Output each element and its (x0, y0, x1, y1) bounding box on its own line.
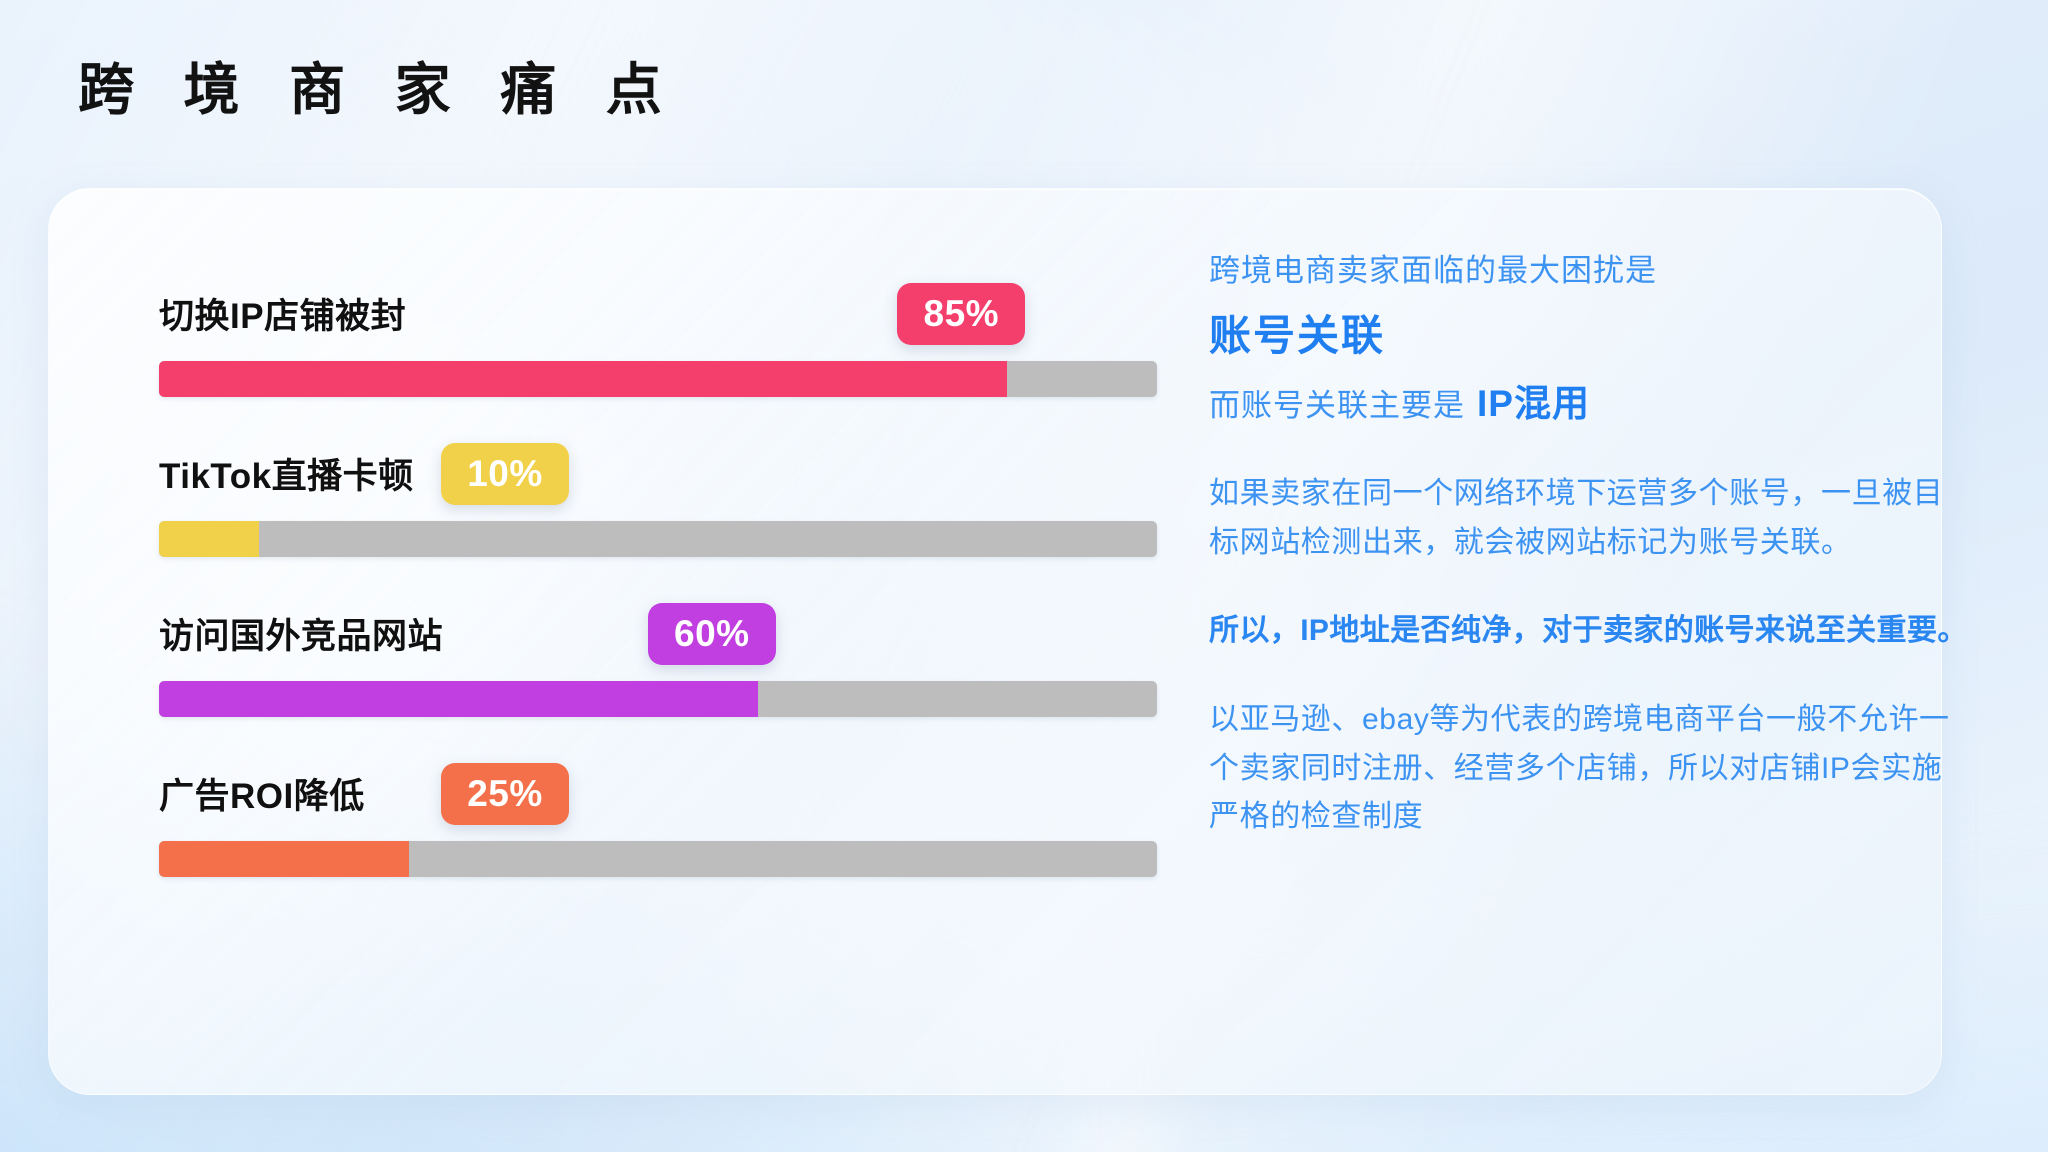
panel-subline-prefix: 而账号关联主要是 (1209, 388, 1465, 423)
page-title: 跨 境 商 家 痛 点 (78, 62, 679, 118)
bar-fill (159, 841, 409, 877)
content-card: 切换IP店铺被封 85% TikTok直播卡顿 10% 访问国外竞品网站 (48, 188, 1942, 1095)
bar-value-badge: 85% (897, 283, 1025, 345)
bar-track (159, 681, 1157, 717)
bar-row: TikTok直播卡顿 10% (111, 421, 1161, 581)
panel-subline: 而账号关联主要是IP混用 (1209, 378, 1969, 430)
slide-canvas: 跨 境 商 家 痛 点 切换IP店铺被封 85% TikTok直播卡顿 10% (0, 0, 2048, 1152)
bar-header: 访问国外竞品网站 60% (111, 581, 1161, 667)
bar-value-badge: 60% (648, 603, 776, 665)
bar-header: TikTok直播卡顿 10% (111, 421, 1161, 507)
panel-paragraph: 所以，IP地址是否纯净，对于卖家的账号来说至关重要。 (1209, 607, 1969, 656)
bar-label: TikTok直播卡顿 (159, 448, 414, 499)
bar-label: 访问国外竞品网站 (159, 608, 443, 659)
bar-row: 访问国外竞品网站 60% (111, 581, 1161, 741)
bar-track (159, 841, 1157, 877)
bar-header: 广告ROI降低 25% (111, 741, 1161, 827)
bar-value-badge: 10% (441, 443, 569, 505)
bar-row: 切换IP店铺被封 85% (111, 261, 1161, 421)
bar-label: 切换IP店铺被封 (159, 288, 406, 339)
panel-paragraph: 如果卖家在同一个网络环境下运营多个账号，一旦被目标网站检测出来，就会被网站标记为… (1209, 470, 1969, 567)
bar-row: 广告ROI降低 25% (111, 741, 1161, 901)
pain-point-bar-chart: 切换IP店铺被封 85% TikTok直播卡顿 10% 访问国外竞品网站 (111, 261, 1161, 901)
bar-fill (159, 521, 259, 557)
panel-paragraph: 以亚马逊、ebay等为代表的跨境电商平台一般不允许一个卖家同时注册、经营多个店铺… (1209, 696, 1969, 842)
bar-label: 广告ROI降低 (159, 768, 365, 819)
panel-subline-emphasis: IP混用 (1477, 383, 1590, 424)
bar-track (159, 521, 1157, 557)
bar-fill (159, 681, 758, 717)
description-panel: 跨境电商卖家面临的最大困扰是 账号关联 而账号关联主要是IP混用 如果卖家在同一… (1209, 249, 1969, 842)
bar-header: 切换IP店铺被封 85% (111, 261, 1161, 347)
panel-lead-text: 跨境电商卖家面临的最大困扰是 (1209, 249, 1969, 294)
bar-value-badge: 25% (441, 763, 569, 825)
bar-track (159, 361, 1157, 397)
panel-headline: 账号关联 (1209, 310, 1969, 363)
bar-fill (159, 361, 1007, 397)
